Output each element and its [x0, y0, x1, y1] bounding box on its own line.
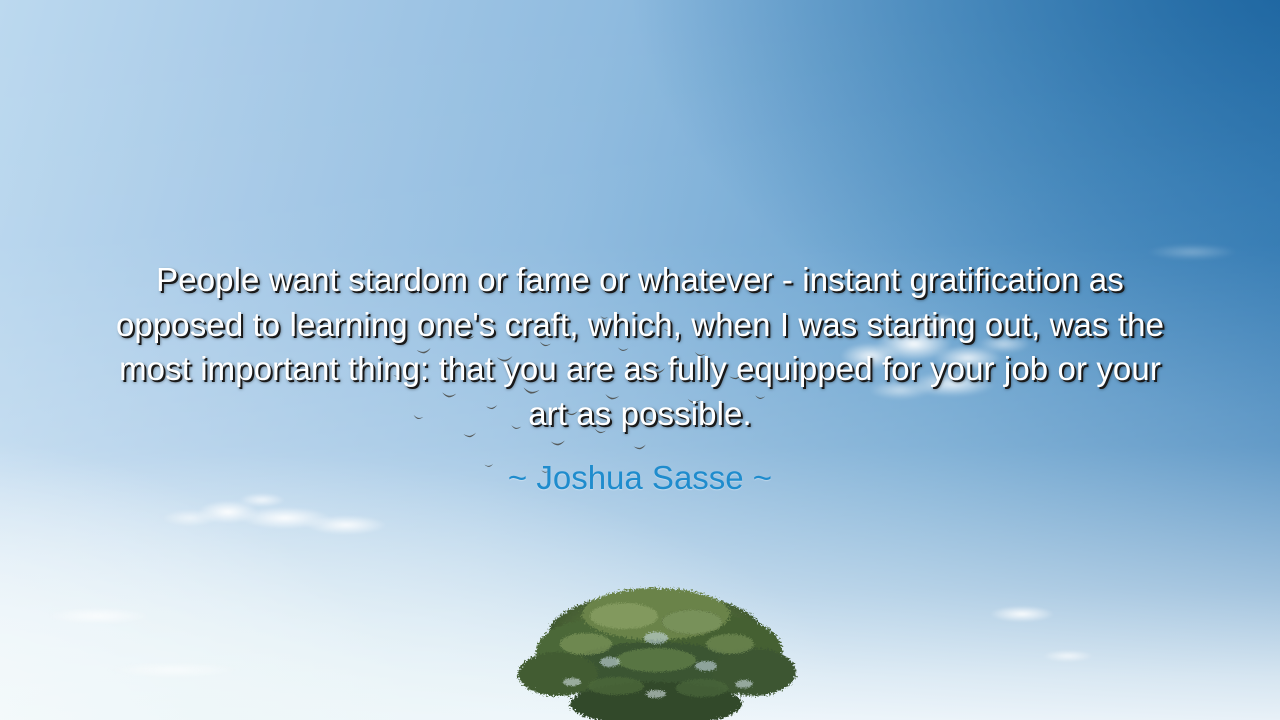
- tree: [506, 578, 806, 720]
- quote-wallpaper: People want stardom or fame or whatever …: [0, 0, 1280, 720]
- quote-attribution: ~ Joshua Sasse ~: [0, 458, 1280, 498]
- quote-text: People want stardom or fame or whatever …: [105, 258, 1175, 436]
- quote-block: People want stardom or fame or whatever …: [0, 258, 1280, 498]
